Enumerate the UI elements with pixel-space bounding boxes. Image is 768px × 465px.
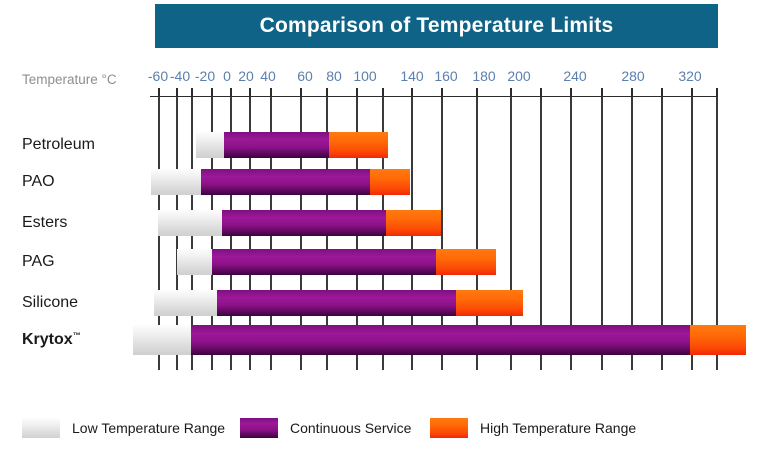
legend-item-cont: Continuous Service (240, 418, 411, 438)
x-axis-tick (661, 88, 663, 97)
x-tick-label: 280 (621, 68, 644, 84)
x-axis-tick (356, 88, 358, 97)
temperature-limits-chart: Comparison of Temperature Limits Tempera… (0, 0, 768, 465)
bar-segment-low-temperature (151, 169, 201, 195)
x-tick-label: 60 (297, 68, 313, 84)
x-axis-tick (249, 88, 251, 97)
x-tick-label: 200 (507, 68, 530, 84)
x-axis-tick (691, 88, 693, 97)
row-label-pag: PAG (22, 253, 55, 271)
x-tick-label: -60 (148, 68, 168, 84)
row-label-text: Krytox (22, 331, 73, 348)
x-tick-label: -40 (170, 68, 190, 84)
x-tick-label: 240 (563, 68, 586, 84)
row-label-text: PAG (22, 253, 55, 270)
x-axis-tick (540, 88, 542, 97)
x-axis-tick (441, 88, 443, 97)
row-label-petroleum: Petroleum (22, 136, 95, 154)
x-tick-label: 160 (434, 68, 457, 84)
row-label-pao: PAO (22, 173, 55, 191)
x-axis-tick (476, 88, 478, 97)
row-label-silicone: Silicone (22, 294, 78, 312)
bar-segment-continuous-service (201, 169, 370, 195)
x-axis-tick (176, 88, 178, 97)
x-axis-tick (510, 88, 512, 97)
bar-segment-low-temperature (154, 290, 217, 316)
x-axis-tick (326, 88, 328, 97)
row-label-text: Silicone (22, 294, 78, 311)
bar-segment-high-temperature (436, 249, 496, 275)
bar-segment-low-temperature (133, 325, 191, 355)
x-tick-label: 80 (326, 68, 342, 84)
x-axis-tick (411, 88, 413, 97)
bar-segment-continuous-service (222, 210, 386, 236)
bar-segment-high-temperature (690, 325, 746, 355)
x-tick-label: 140 (400, 68, 423, 84)
x-tick-label: -20 (195, 68, 215, 84)
x-axis-tick (230, 88, 232, 97)
chart-legend: Low Temperature RangeContinuous ServiceH… (0, 418, 768, 458)
bar-segment-high-temperature (370, 169, 410, 195)
row-label-text: Petroleum (22, 136, 95, 153)
row-label-krytox: Krytox™ (22, 331, 81, 349)
x-tick-label: 320 (678, 68, 701, 84)
x-tick-label: 100 (353, 68, 376, 84)
legend-item-high: High Temperature Range (430, 418, 636, 438)
bar-segment-high-temperature (456, 290, 523, 316)
legend-item-low: Low Temperature Range (22, 418, 225, 438)
legend-swatch-cont (240, 418, 278, 438)
x-tick-label: 180 (472, 68, 495, 84)
x-axis-tick (158, 88, 160, 97)
x-axis-tick (211, 88, 213, 97)
legend-swatch-high (430, 418, 468, 438)
page-title: Comparison of Temperature Limits (260, 14, 614, 38)
bar-segment-continuous-service (224, 132, 329, 158)
legend-label: High Temperature Range (480, 420, 636, 436)
x-axis-tick (570, 88, 572, 97)
legend-label: Low Temperature Range (72, 420, 225, 436)
row-label-esters: Esters (22, 214, 67, 232)
bar-segment-continuous-service (191, 325, 690, 355)
x-axis-tick (300, 88, 302, 97)
x-axis-tick (716, 88, 718, 97)
bar-segment-low-temperature (196, 132, 224, 158)
x-axis-tick (191, 88, 193, 97)
x-axis-tick (382, 88, 384, 97)
trademark-symbol: ™ (73, 331, 81, 340)
legend-label: Continuous Service (290, 420, 411, 436)
x-axis-tick (270, 88, 272, 97)
x-tick-label: 20 (238, 68, 254, 84)
chart-title-bar: Comparison of Temperature Limits (155, 4, 718, 48)
x-tick-label: 40 (260, 68, 276, 84)
row-label-text: PAO (22, 173, 55, 190)
x-axis-tick (601, 88, 603, 97)
bar-segment-low-temperature (177, 249, 212, 275)
x-axis-tick (631, 88, 633, 97)
axis-caption: Temperature °C (22, 72, 117, 87)
row-label-text: Esters (22, 214, 67, 231)
bar-segment-low-temperature (158, 210, 222, 236)
x-tick-label: 0 (223, 68, 231, 84)
bar-segment-continuous-service (212, 249, 436, 275)
legend-swatch-low (22, 418, 60, 438)
bar-segment-continuous-service (217, 290, 456, 316)
bar-segment-high-temperature (386, 210, 441, 236)
bar-segment-high-temperature (329, 132, 388, 158)
